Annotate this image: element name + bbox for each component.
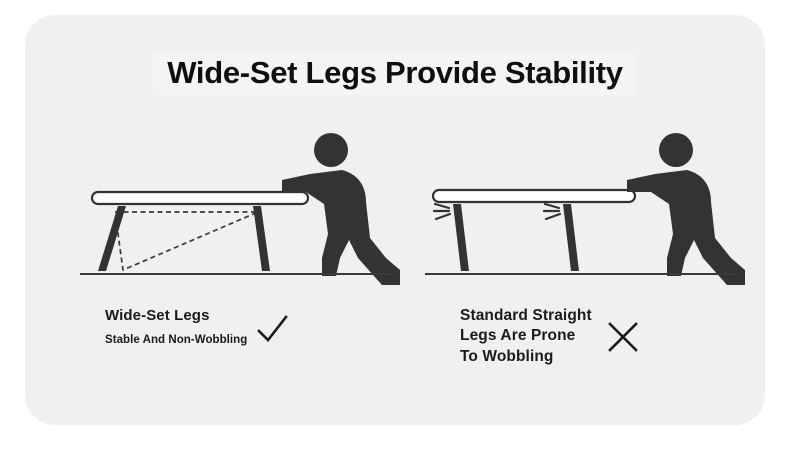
caption-subtext: Stable And Non-Wobbling bbox=[105, 334, 247, 348]
person-pushing-table bbox=[282, 133, 400, 285]
dashed-stability-triangle bbox=[115, 212, 258, 270]
page-title: Wide-Set Legs Provide Stability bbox=[167, 55, 623, 90]
illustration-straight-legs bbox=[415, 130, 745, 305]
person-head bbox=[659, 133, 693, 167]
cross-mark-icon bbox=[606, 320, 640, 354]
caption-text-block: Standard Straight Legs Are Prone To Wobb… bbox=[460, 306, 592, 367]
screenshot-root: Wide-Set Legs Provide Stability bbox=[0, 0, 790, 461]
title-highlight-band: Wide-Set Legs Provide Stability bbox=[153, 53, 637, 95]
caption-wide-set-legs: Wide-Set Legs Stable And Non-Wobbling bbox=[105, 306, 320, 348]
person-pushing-table bbox=[627, 133, 745, 285]
title-container: Wide-Set Legs Provide Stability bbox=[25, 53, 765, 95]
caption-heading-line-2: Legs Are Prone bbox=[460, 326, 592, 346]
illustration-wide-set-legs bbox=[70, 130, 400, 305]
caption-straight-legs: Standard Straight Legs Are Prone To Wobb… bbox=[460, 306, 690, 367]
tabletop bbox=[92, 192, 308, 204]
person-head bbox=[314, 133, 348, 167]
caption-heading-line-1: Standard Straight bbox=[460, 306, 592, 326]
caption-heading: Wide-Set Legs bbox=[105, 306, 247, 325]
table-legs-splayed bbox=[98, 206, 270, 271]
wobble-motion-lines-left bbox=[434, 204, 450, 219]
caption-text-block: Wide-Set Legs Stable And Non-Wobbling bbox=[105, 306, 247, 348]
caption-heading-line-3: To Wobbling bbox=[460, 347, 592, 367]
person-body bbox=[282, 170, 400, 285]
wobble-motion-lines-right bbox=[544, 204, 560, 219]
check-mark-icon bbox=[255, 313, 289, 347]
tabletop bbox=[433, 190, 635, 202]
person-body bbox=[627, 170, 745, 285]
